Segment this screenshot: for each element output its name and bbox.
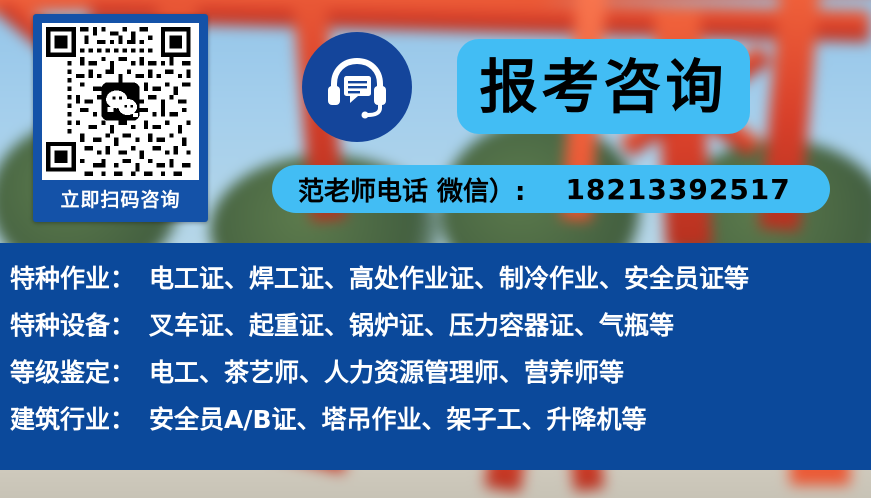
category-items: 电工证、焊工证、高处作业证、制冷作业、安全员证等 — [149, 259, 749, 295]
category-label: 等级鉴定： — [10, 353, 135, 389]
category-row-special-equipment: 特种设备： 叉车证、起重证、锅炉证、压力容器证、气瓶等 — [0, 306, 871, 353]
qr-code-card[interactable]: 立即扫码咨询 — [33, 14, 208, 222]
qr-matrix — [42, 23, 199, 180]
contact-number[interactable]: 18213392517 — [565, 173, 790, 206]
category-items: 安全员A/B证、塔吊作业、架子工、升降机等 — [149, 400, 647, 436]
category-items: 叉车证、起重证、锅炉证、压力容器证、气瓶等 — [149, 306, 674, 342]
contact-label: 范老师电话 微信）: — [298, 171, 525, 208]
category-items: 电工、茶艺师、人力资源管理师、营养师等 — [149, 353, 624, 389]
contact-pill[interactable]: 范老师电话 微信）: 18213392517 — [272, 165, 830, 213]
title-badge: 报考咨询 — [457, 39, 750, 134]
wechat-qr-code-icon[interactable] — [42, 23, 199, 180]
page-title: 报考咨询 — [479, 58, 727, 116]
categories-panel: 特种作业： 电工证、焊工证、高处作业证、制冷作业、安全员证等 特种设备： 叉车证… — [0, 243, 871, 470]
category-label: 特种作业： — [10, 259, 135, 295]
headset-support-icon[interactable] — [302, 32, 412, 142]
category-row-grade-assessment: 等级鉴定： 电工、茶艺师、人力资源管理师、营养师等 — [0, 353, 871, 400]
category-label: 特种设备： — [10, 306, 135, 342]
category-row-special-operations: 特种作业： 电工证、焊工证、高处作业证、制冷作业、安全员证等 — [0, 259, 871, 306]
headset-glyph — [320, 50, 394, 124]
category-label: 建筑行业： — [10, 400, 135, 436]
category-row-construction-industry: 建筑行业： 安全员A/B证、塔吊作业、架子工、升降机等 — [0, 400, 871, 447]
promo-banner: 立即扫码咨询 报考咨询 范老师电话 微信）: 18213392517 特种 — [0, 0, 871, 498]
qr-caption: 立即扫码咨询 — [60, 180, 180, 220]
